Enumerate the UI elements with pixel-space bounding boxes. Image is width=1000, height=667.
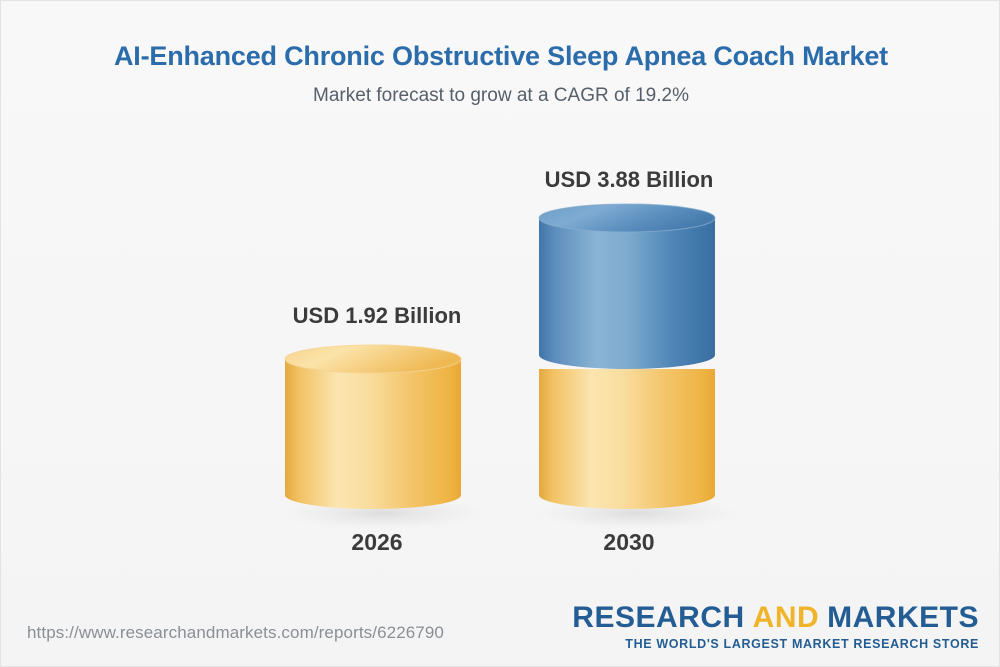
logo-word-research: RESEARCH (572, 601, 744, 634)
cylinder-segment-blue-2030 (539, 218, 715, 369)
logo-word-and: AND (753, 601, 820, 634)
bar-value-label-2030: USD 3.88 Billion (479, 167, 779, 193)
cylinder-bar-2026[interactable] (267, 335, 487, 535)
infographic-canvas: AI-Enhanced Chronic Obstructive Sleep Ap… (0, 0, 1000, 667)
cylinder-segment-yellow-2030 (539, 369, 715, 509)
bar-category-label-2030: 2030 (479, 529, 779, 556)
logo-tagline: THE WORLD'S LARGEST MARKET RESEARCH STOR… (572, 636, 979, 652)
chart-plot-area: USD 1.92 Billion (1, 1, 1000, 667)
report-url[interactable]: https://www.researchandmarkets.com/repor… (27, 623, 444, 643)
bar-group-2030[interactable]: USD 3.88 Billion (479, 1, 779, 667)
logo-wordmark: RESEARCHANDMARKETS (572, 601, 979, 634)
logo-word-markets: MARKETS (827, 601, 979, 634)
cylinder-bar-2030[interactable] (521, 193, 741, 535)
brand-logo[interactable]: RESEARCHANDMARKETS THE WORLD'S LARGEST M… (572, 601, 979, 652)
cylinder-body-2026 (285, 359, 461, 509)
